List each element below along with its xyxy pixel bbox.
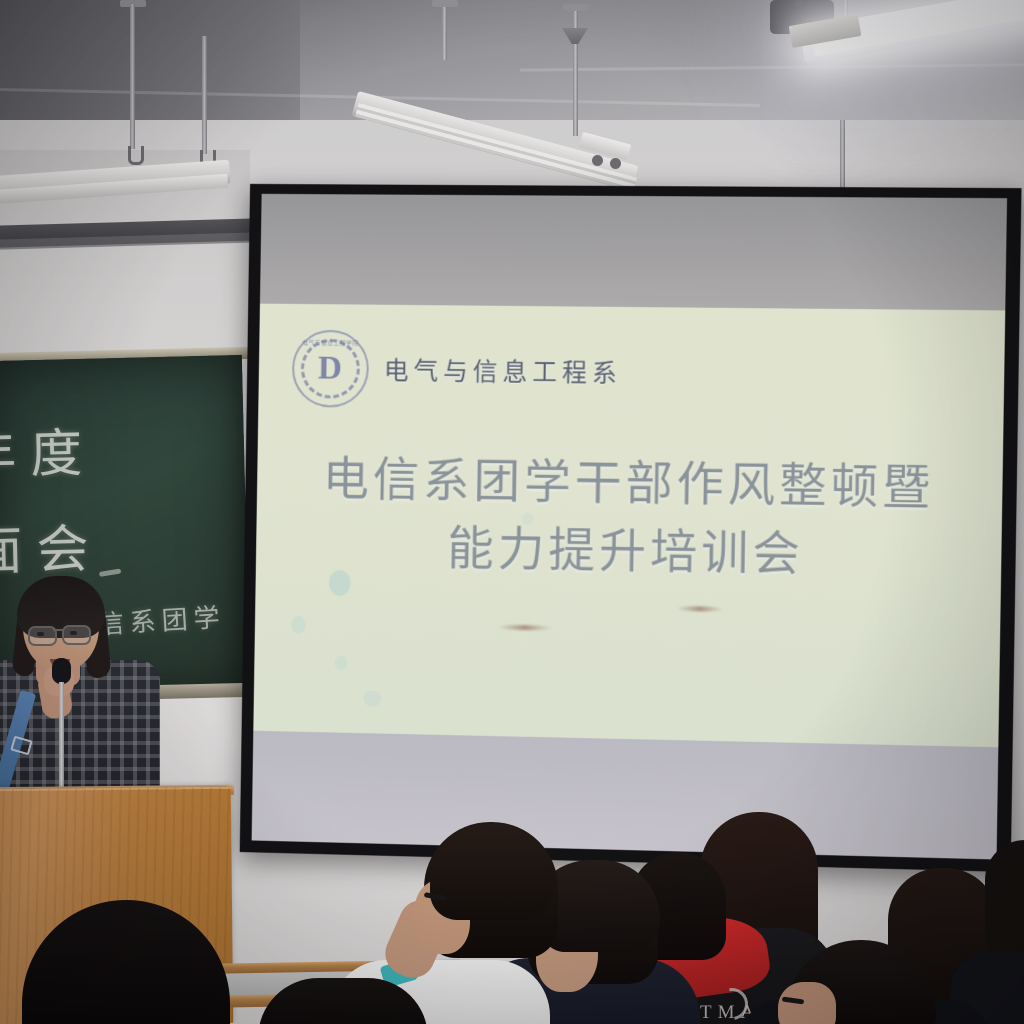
slide-title-line-1: 电信系团学干部作风整顿暨 xyxy=(322,451,934,515)
slide-title: 电信系团学干部作风整顿暨 能力提升培训会 xyxy=(256,445,1003,593)
speaker-eyebrow-left xyxy=(33,620,49,623)
audience-7-head-side xyxy=(778,982,836,1024)
rod-hook-1 xyxy=(128,146,144,165)
microphone-handle xyxy=(59,682,64,794)
microphone-head xyxy=(52,658,71,684)
seal-gear-ring xyxy=(300,339,360,399)
slide-department-name: 电气与信息工程系 xyxy=(384,351,623,390)
speaker-eyebrow-right xyxy=(66,620,82,623)
classroom-photo-scene: 年度 面会 电信系团学会 电气与信息工程学院 D 电气与信息工程系 xyxy=(0,0,1024,1024)
slide-header: 电气与信息工程学院 D 电气与信息工程系 xyxy=(291,330,622,411)
speaker-glasses-right-lens xyxy=(62,625,91,645)
blackboard-chalk-line-2: 面会 xyxy=(0,506,103,584)
rod-ceiling-plate-4 xyxy=(563,4,589,11)
slide-top-band xyxy=(260,194,1007,311)
fluorescent-socket-2 xyxy=(610,158,621,169)
speaker-eye-right xyxy=(70,631,77,635)
rod-ceiling-plate-3 xyxy=(432,0,458,7)
university-seal-logo: 电气与信息工程学院 D xyxy=(291,330,369,408)
slide-decor-bubble-3 xyxy=(335,655,348,670)
slide-decor-bubble-1 xyxy=(328,570,350,596)
speaker-glasses-bridge xyxy=(53,629,63,631)
projection-screen: 电气与信息工程学院 D 电气与信息工程系 电信系团学干部作风整顿暨 能力提升培训… xyxy=(240,184,1022,872)
speaker-eye-left xyxy=(37,632,44,636)
screen-surface: 电气与信息工程学院 D 电气与信息工程系 电信系团学干部作风整顿暨 能力提升培训… xyxy=(252,194,1007,860)
slide-title-line-2: 能力提升培训会 xyxy=(256,512,1002,592)
screen-smudge-2 xyxy=(676,606,724,612)
slide-decor-bubble-5 xyxy=(521,513,533,525)
projector-mount-bracket xyxy=(795,0,801,6)
seal-arc-text: 电气与信息工程学院 xyxy=(294,338,367,348)
screen-smudge-1 xyxy=(497,624,553,630)
hanging-rod-1 xyxy=(130,4,135,149)
slide-decor-bubble-2 xyxy=(291,616,306,634)
hanging-rod-4 xyxy=(573,8,578,136)
hanging-rod-2 xyxy=(202,36,207,154)
slide-bottom-band xyxy=(252,731,999,860)
hanging-rod-3 xyxy=(442,0,447,60)
blackboard-chalk-line-1: 年度 xyxy=(0,411,97,489)
slide-decor-bubble-4 xyxy=(363,690,381,706)
fluorescent-socket-1 xyxy=(592,155,603,166)
audience-8-hair xyxy=(985,840,1024,960)
presentation-slide: 电气与信息工程学院 D 电气与信息工程系 电信系团学干部作风整顿暨 能力提升培训… xyxy=(253,304,1005,747)
